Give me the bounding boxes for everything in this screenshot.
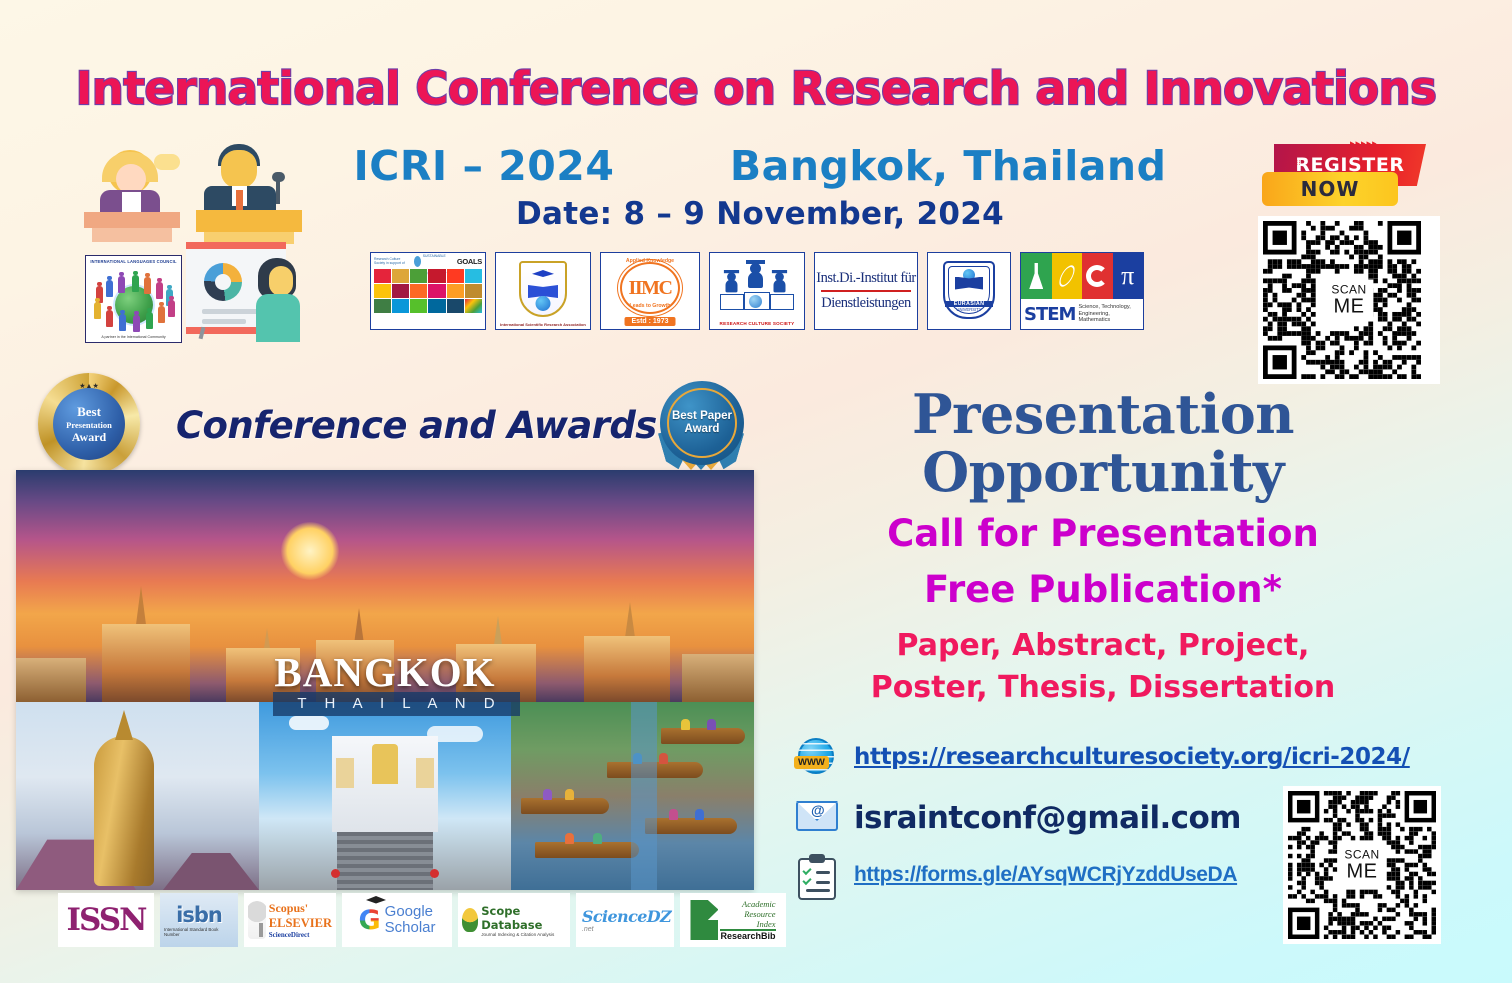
un-emblem-icon: [414, 256, 421, 267]
qr-scan-text: SCAN: [1331, 284, 1366, 296]
paper-award-line1: Best Paper: [672, 410, 732, 423]
organizer-logo-strip: Research Culture Society in support of S…: [370, 252, 1144, 330]
conference-and-awards-heading: Conference and Awards: [176, 404, 657, 447]
website-link[interactable]: https://researchculturesociety.org/icri-…: [854, 744, 1410, 770]
scopus-text: Scopus': [269, 901, 332, 916]
sciencedz-net-text: .net: [582, 926, 671, 933]
graduation-cap-icon: [532, 270, 554, 277]
register-now-badge[interactable]: ▸▸▸▸▸ REGISTER ⁝⁝ NOW: [1258, 138, 1440, 210]
sdg-goal-tiles: [374, 269, 482, 313]
isbn-subtitle: International Standard Book Number: [164, 927, 234, 937]
elsevier-text: ELSEVIER: [269, 916, 332, 931]
submission-types-line1: Paper, Abstract, Project,: [790, 628, 1416, 663]
temple-stairs: [337, 832, 433, 890]
inst-di-logo: Inst.Di.-Institut für Dienstleistungen: [814, 252, 918, 330]
academic-text: Academic: [720, 899, 775, 909]
buddha-statue: [94, 736, 154, 886]
shield-icon: EURASIAN UNIVERSITY: [943, 261, 995, 319]
envelope-icon: @: [792, 795, 844, 841]
conference-location: Bangkok, Thailand: [730, 142, 1167, 190]
ilc-footer: A partner in the International Community: [86, 335, 181, 339]
issn-text: ISSN: [67, 902, 146, 938]
scope-database-text: Scope Database: [481, 904, 566, 932]
form-link[interactable]: https://forms.gle/AYsqWCRjYzddUseDA: [854, 863, 1237, 887]
now-label-bg: NOW: [1262, 172, 1398, 206]
sdg-note: Research Culture Society in support of: [374, 258, 412, 265]
google-scholar-logo: G Google Scholar: [342, 893, 452, 947]
divider: [821, 290, 911, 292]
contact-qr-code[interactable]: SCAN ME: [1283, 786, 1441, 944]
globe-www-icon: WWW: [792, 736, 844, 782]
stem-sub2: Engineering, Mathematics: [1078, 311, 1140, 325]
instdi-line1: Inst.Di.-Institut für: [814, 270, 918, 287]
best-presentation-award-badge: ★▲★ Best Presentation Award: [38, 373, 140, 475]
stem-word: STEM: [1024, 304, 1075, 325]
gear-icon: [1082, 253, 1113, 299]
stem-logo: π STEM Science, Technology, Engineering,…: [1020, 252, 1144, 330]
paper-award-line2: Award: [672, 423, 732, 436]
crown-icon: ★▲★: [79, 382, 98, 390]
standing-buddha-photo: [16, 702, 259, 890]
isra-caption: International Scientific Research Associ…: [496, 322, 590, 327]
instdi-line2: Dienstleistungen: [818, 295, 913, 312]
flask-icon: [1021, 253, 1052, 299]
attendee-icon: [254, 260, 304, 342]
iimc-logo: IIMC Applied Knowledge Leads to Growth E…: [600, 252, 700, 330]
qr-scan-me-label: SCAN ME: [1337, 845, 1386, 886]
researchbib-mark-icon: [690, 900, 718, 940]
issn-logo: ISSN: [58, 893, 154, 947]
pie-chart-icon: [204, 263, 242, 301]
sun-icon: [281, 522, 339, 580]
scope-database-logo: Scope Database Journal Indexing & Citati…: [458, 893, 570, 947]
qr-scan-text: SCAN: [1344, 849, 1379, 861]
shield-icon: [519, 261, 567, 317]
stem-sub1: Science, Technology,: [1078, 304, 1140, 311]
call-for-presentation-text: Call for Presentation: [790, 512, 1416, 555]
research-culture-society-logo: RESEARCH CULTURE SOCIETY: [709, 252, 805, 330]
isbn-text: isbn: [176, 903, 222, 927]
globe-icon: [536, 296, 551, 311]
conference-acronym-location: ICRI – 2024 Bangkok, Thailand: [330, 142, 1190, 190]
scholar-text: Scholar: [385, 920, 436, 936]
sdg-title: GOALS: [457, 257, 482, 266]
award-line2: Presentation: [66, 420, 112, 430]
resource-text: Resource: [720, 909, 775, 919]
award-line3: Award: [72, 430, 106, 445]
qr-me-text: ME: [1331, 297, 1366, 317]
temple-building: [332, 736, 438, 832]
female-speaker-icon: [78, 150, 186, 246]
iimc-bottom-text: Leads to Growth: [601, 303, 699, 309]
google-g-icon: G: [358, 905, 380, 936]
sciencedz-text: ScienceDZ: [582, 907, 671, 926]
presentation-heading-line2: Opportunity: [790, 440, 1416, 504]
collage-country-label: T H A I L A N D: [273, 692, 520, 716]
pi-icon: π: [1113, 253, 1144, 299]
male-speaker-icon: [190, 144, 302, 248]
leaf-icon: [462, 908, 478, 932]
qr-scan-me-label: SCAN ME: [1324, 280, 1373, 321]
bangkok-photo-collage: BANGKOK T H A I L A N D: [16, 470, 754, 890]
elsevier-tree-icon: [248, 901, 266, 939]
book-icon: [955, 277, 983, 290]
isbn-logo: isbn International Standard Book Number: [160, 893, 238, 947]
clipboard-checklist-icon: [792, 855, 844, 901]
conference-acronym: ICRI – 2024: [354, 142, 615, 190]
decorative-dots: ⁝⁝: [1296, 162, 1300, 166]
scopus-elsevier-logo: Scopus' ELSEVIER ScienceDirect: [244, 893, 336, 947]
sciencedz-logo: ScienceDZ .net: [576, 893, 674, 947]
now-label: NOW: [1301, 177, 1360, 201]
atom-icon: [1052, 253, 1083, 299]
presentation-heading-line1: Presentation: [790, 382, 1416, 446]
qr-me-text: ME: [1344, 862, 1379, 882]
rcs-caption: RESEARCH CULTURE SOCIETY: [710, 321, 804, 326]
google-text: Google: [385, 904, 436, 920]
scope-database-subtitle: Journal Indexing & Citation Analysis: [481, 932, 566, 937]
register-qr-code[interactable]: SCAN ME: [1258, 216, 1440, 384]
free-publication-text: Free Publication*: [790, 568, 1416, 611]
graduates-icon: [720, 264, 794, 314]
email-address[interactable]: israintconf@gmail.com: [854, 800, 1241, 836]
international-languages-council-logo: INTERNATIONAL LANGUAGES COUNCIL A partne…: [85, 255, 182, 343]
submission-types-line2: Poster, Thesis, Dissertation: [790, 670, 1416, 705]
conference-poster: International Conference on Research and…: [0, 0, 1512, 983]
researchbib-text: ResearchBib: [720, 929, 775, 941]
register-now-block[interactable]: ▸▸▸▸▸ REGISTER ⁝⁝ NOW SCAN ME: [1258, 138, 1440, 384]
isra-logo: International Scientific Research Associ…: [495, 252, 591, 330]
golden-temple-photo: [259, 702, 511, 890]
conference-date: Date: 8 – 9 November, 2024: [330, 196, 1190, 232]
eurasian-line2: UNIVERSITY: [945, 307, 993, 312]
index-text: Index: [720, 919, 775, 929]
collage-city-label: BANGKOK: [16, 648, 754, 696]
iimc-estd-badge: Estd : 1973: [625, 317, 676, 326]
award-line1: Best: [77, 404, 101, 420]
eurasian-university-logo: EURASIAN UNIVERSITY: [927, 252, 1011, 330]
page-title: International Conference on Research and…: [0, 62, 1512, 115]
iimc-top-text: Applied Knowledge: [601, 258, 699, 264]
ilc-caption: INTERNATIONAL LANGUAGES COUNCIL: [86, 256, 181, 264]
sdg-goals-logo: Research Culture Society in support of S…: [370, 252, 486, 330]
floating-market-photo: [511, 702, 754, 890]
best-paper-award-badge: Best Paper Award: [654, 378, 750, 474]
sciencedirect-text: ScienceDirect: [269, 931, 332, 939]
indexing-logo-strip: ISSN isbn International Standard Book Nu…: [58, 893, 786, 947]
researchbib-logo: Academic Resource Index ResearchBib: [680, 893, 786, 947]
